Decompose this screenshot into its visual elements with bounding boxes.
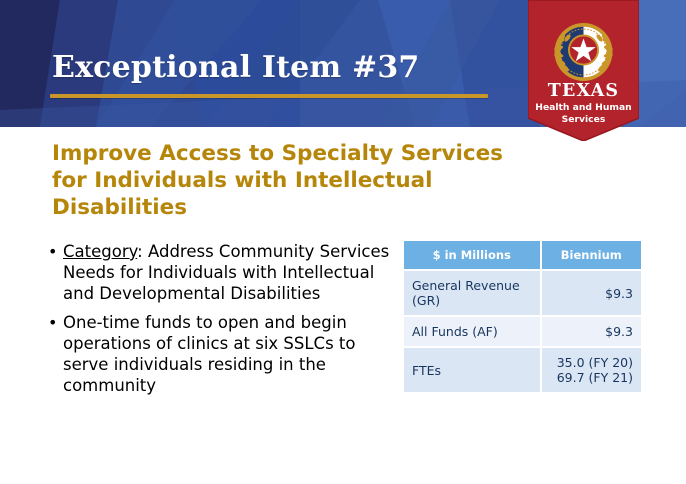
cell-label-all-funds: All Funds (AF) — [404, 315, 542, 346]
column-header-biennium: Biennium — [542, 241, 641, 269]
subtitle-line-2: for Individuals with Intellectual — [52, 167, 552, 194]
svg-text:Health and Human: Health and Human — [535, 102, 631, 113]
subtitle-line-1: Improve Access to Specialty Services — [52, 140, 552, 167]
svg-text:TEXAS: TEXAS — [548, 81, 620, 101]
texas-hhs-logo: TEXAS Health and Human Services — [528, 0, 639, 141]
page-title: Exceptional Item #37 — [52, 50, 420, 85]
cell-label-general-revenue: General Revenue (GR) — [404, 269, 542, 315]
svg-text:Services: Services — [562, 114, 606, 125]
cell-value-all-funds: $9.3 — [542, 315, 641, 346]
cell-value-general-revenue: $9.3 — [542, 269, 641, 315]
table-row: General Revenue (GR) $9.3 — [404, 269, 641, 315]
cell-value-ftes-fy21: 69.7 (FY 21) — [550, 370, 633, 385]
list-item: • Category: Address Community Services N… — [44, 241, 394, 304]
table-row: All Funds (AF) $9.3 — [404, 315, 641, 346]
table-header-row: $ in Millions Biennium — [404, 241, 641, 269]
table-row: FTEs 35.0 (FY 20) 69.7 (FY 21) — [404, 346, 641, 392]
column-header-dollars-in-millions: $ in Millions — [404, 241, 542, 269]
fiscal-summary-table: $ in Millions Biennium General Revenue (… — [404, 241, 641, 392]
bullet-marker: • — [48, 312, 57, 333]
cell-label-ftes: FTEs — [404, 346, 542, 392]
list-item: • One-time funds to open and begin opera… — [44, 312, 394, 396]
cell-value-ftes-fy20: 35.0 (FY 20) — [550, 355, 633, 370]
cell-value-ftes: 35.0 (FY 20) 69.7 (FY 21) — [542, 346, 641, 392]
slide: Exceptional Item #37 — [0, 0, 686, 484]
bullet-marker: • — [48, 241, 57, 262]
slide-subtitle: Improve Access to Specialty Services for… — [52, 140, 552, 221]
subtitle-line-3: Disabilities — [52, 194, 552, 221]
bullet-text: One-time funds to open and begin operati… — [63, 313, 356, 395]
bullet-list: • Category: Address Community Services N… — [44, 241, 394, 404]
title-underline-rule — [50, 94, 488, 98]
bullet-lead-category: Category — [63, 242, 137, 261]
